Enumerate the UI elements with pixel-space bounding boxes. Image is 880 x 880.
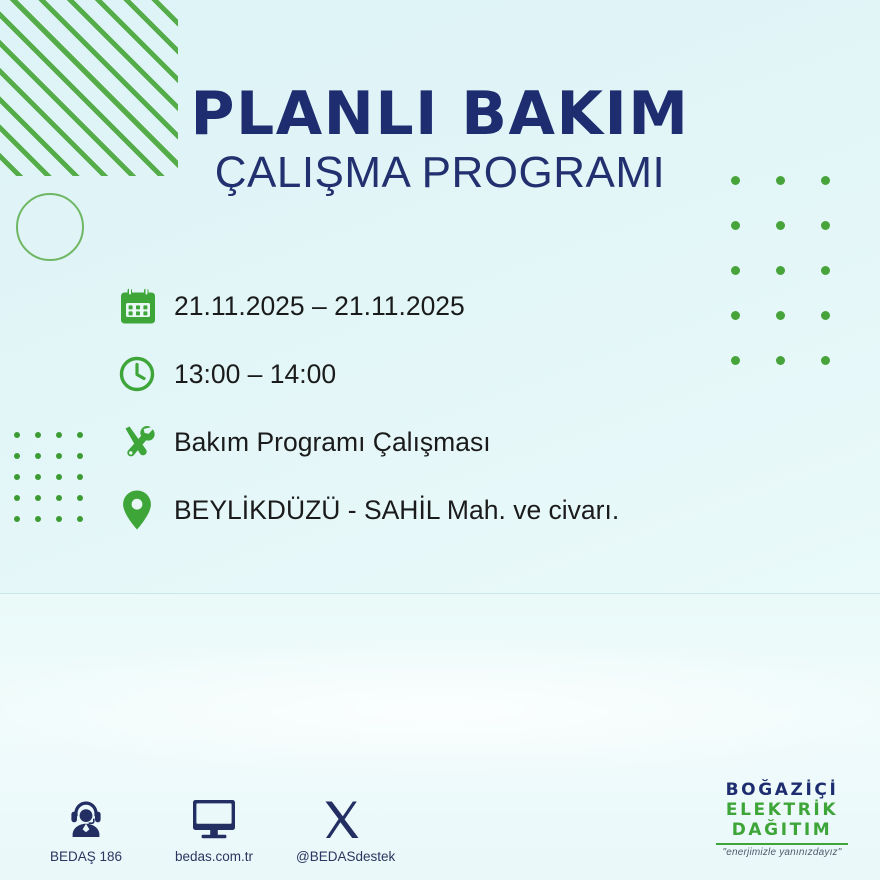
dot — [731, 221, 740, 230]
dot — [56, 495, 62, 501]
brand-line-3: DAĞITIM — [702, 820, 862, 840]
info-row-location-text: BEYLİKDÜZÜ - SAHİL Mah. ve civarı. — [174, 495, 619, 526]
dot — [35, 432, 41, 438]
call-center-agent-icon — [40, 792, 132, 842]
brand-line-2: ELEKTRİK — [702, 800, 862, 820]
page-subtitle: ÇALIŞMA PROGRAMI — [0, 150, 880, 196]
dot — [35, 453, 41, 459]
brand-divider — [716, 843, 848, 845]
dot — [56, 474, 62, 480]
dot — [56, 516, 62, 522]
info-row-date: 21.11.2025 – 21.11.2025 — [118, 272, 838, 340]
contact-item-x[interactable]: @BEDASdestek — [296, 792, 388, 864]
footer-contact-bar: BEDAŞ 186 bedas.com.tr — [40, 792, 388, 864]
maintenance-info-list: 21.11.2025 – 21.11.2025 13:00 – 14:00 — [118, 272, 838, 544]
calendar-icon — [118, 280, 174, 332]
page-title: PLANLI BAKIM — [0, 84, 880, 144]
brand-logo: BOĞAZİÇİ ELEKTRİK DAĞITIM "enerjimizle y… — [702, 780, 862, 858]
contact-item-call-center[interactable]: BEDAŞ 186 — [40, 792, 132, 864]
info-row-date-text: 21.11.2025 – 21.11.2025 — [174, 291, 465, 322]
brand-line-1: BOĞAZİÇİ — [702, 780, 862, 800]
dot — [77, 453, 83, 459]
dot — [56, 432, 62, 438]
info-row-time: 13:00 – 14:00 — [118, 340, 838, 408]
info-row-time-text: 13:00 – 14:00 — [174, 359, 336, 390]
contact-label-call-center: BEDAŞ 186 — [40, 849, 132, 864]
contact-label-x: @BEDASdestek — [296, 849, 388, 864]
dot — [77, 516, 83, 522]
contact-item-website[interactable]: bedas.com.tr — [168, 792, 260, 864]
monitor-icon — [168, 792, 260, 842]
dot — [77, 432, 83, 438]
contact-label-website: bedas.com.tr — [168, 849, 260, 864]
circle-outline-decoration — [16, 193, 84, 261]
dot — [77, 495, 83, 501]
dot — [776, 221, 785, 230]
dot — [14, 495, 20, 501]
planned-maintenance-poster: PLANLI BAKIM ÇALIŞMA PROGRAMI — [0, 0, 880, 880]
dot — [35, 474, 41, 480]
dot — [14, 432, 20, 438]
dot — [14, 474, 20, 480]
x-twitter-icon — [296, 792, 388, 842]
info-row-work-type: Bakım Programı Çalışması — [118, 408, 838, 476]
poster-title-block: PLANLI BAKIM ÇALIŞMA PROGRAMI — [0, 84, 880, 196]
tools-icon — [118, 416, 174, 468]
dot — [56, 453, 62, 459]
info-row-work-type-text: Bakım Programı Çalışması — [174, 427, 491, 458]
dot — [821, 221, 830, 230]
dot — [14, 453, 20, 459]
poster-upper-panel: PLANLI BAKIM ÇALIŞMA PROGRAMI — [0, 0, 880, 594]
background-wash-decoration — [0, 634, 880, 784]
dot — [35, 516, 41, 522]
location-pin-icon — [118, 484, 174, 536]
dot — [77, 474, 83, 480]
info-row-location: BEYLİKDÜZÜ - SAHİL Mah. ve civarı. — [118, 476, 838, 544]
dot-grid-left-decoration — [14, 432, 98, 537]
dot — [14, 516, 20, 522]
dot — [35, 495, 41, 501]
clock-icon — [118, 348, 174, 400]
brand-tagline: "enerjimizle yanınızdayız" — [702, 847, 862, 858]
